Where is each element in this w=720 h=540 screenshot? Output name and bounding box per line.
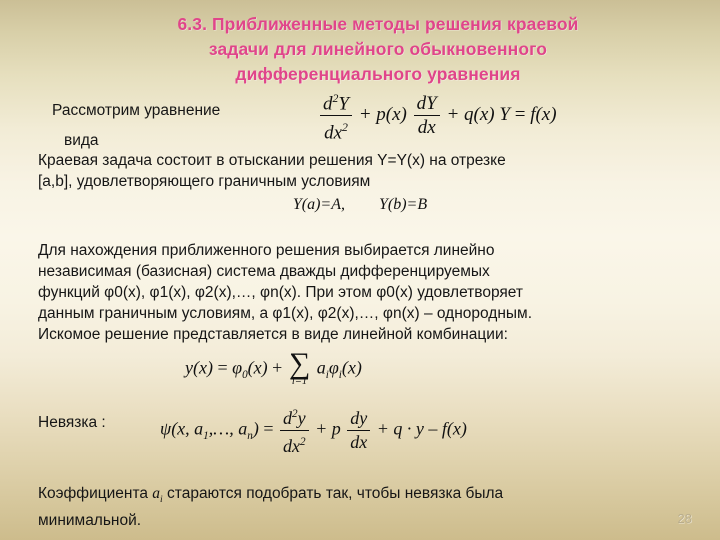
f-of-x-term: f(x) [442,419,467,439]
psi-args-open: (x, a [171,419,203,439]
slide-canvas: 6.3. Приближенные методы решения краевой… [0,0,720,540]
slide-title-line-2: задачи для линейного обыкновенного [128,37,628,62]
first-derivative-numerator: dY [414,93,440,116]
right-hand-side: f(x) [530,104,556,125]
equals-sign: = [217,358,227,378]
residual-first-derivative-fraction: dy dx [347,408,370,453]
closing-line-1: Коэффициента ai стараются подобрать так,… [38,483,638,510]
sigma-icon: ∑ [289,352,310,376]
closing-text-after-math: стараются подобрать так, чтобы невязка б… [163,485,503,502]
plus-operator-1: + [315,419,327,439]
slide-title: 6.3. Приближенные методы решения краевой… [128,12,628,87]
coefficient-a-i: ai [152,485,162,502]
equals-sign: = [263,419,273,439]
dx-exponent: 2 [300,436,306,448]
page-number: 28 [678,511,692,526]
residual-first-derivative-numerator: dy [347,408,370,431]
consider-equation-label: Рассмотрим уравнение [52,100,220,121]
basis-system-paragraph: Для нахождения приближенного решения выб… [38,240,688,345]
slide-title-line-1: 6.3. Приближенные методы решения краевой [128,12,628,37]
coefficient-a: a [317,358,326,378]
basis-line-5: Искомое решение представляется в виде ли… [38,324,688,345]
psi-args-close: ) [253,419,259,439]
q-times-y-term: q · y [393,419,424,439]
basis-line-3: функций φ0(x), φ1(x), φ2(x),…, φn(x). Пр… [38,282,688,303]
d-symbol: d [283,408,292,428]
basis-line-4: данным граничным условиям, а φ1(x), φ2(x… [38,303,688,324]
slide-title-line-3: дифференциального уравнения [128,62,628,87]
first-derivative-fraction: dY dx [414,93,440,138]
first-derivative-denominator: dx [414,116,440,138]
plus-operator: + [272,358,282,378]
residual-second-derivative-numerator: d2y [280,404,309,431]
y-variable: y [298,408,306,428]
psi-symbol: ψ [160,419,171,439]
summation-operator: ∑ i=1 [289,352,310,387]
q-of-x-coefficient: q(x) [464,104,495,125]
residual-label: Невязка : [38,412,106,433]
p-of-x-coefficient: p(x) [376,104,407,125]
residual-first-derivative-denominator: dx [347,431,370,453]
closing-text-before-math: Коэффициента [38,485,152,502]
psi-args-middle: ,…, a [209,419,248,439]
phi-i-argument: (x) [342,358,362,378]
boundary-condition-b: Y(b)=B [379,196,427,213]
basis-line-2: независимая (базисная) система дважды ди… [38,261,688,282]
dx-exponent: 2 [342,121,348,134]
second-derivative-numerator: d2Y [320,88,352,116]
phi-zero-symbol: φ [232,358,242,378]
equals-sign: = [515,104,526,125]
Y-term: Y [499,104,510,125]
minus-operator: – [428,419,437,439]
statement-line-2: [a,b], удовлетворяющего граничным услови… [38,171,678,192]
dx-symbol: dx [324,123,342,144]
coefficient-a-symbol: a [152,485,160,502]
closing-paragraph: Коэффициента ai стараются подобрать так,… [38,483,638,531]
residual-equation: ψ(x, a1,…, an) = d2y dx2 + p dy dx + q ·… [160,404,467,457]
d-symbol: d [323,93,333,114]
plus-operator-1: + [359,104,372,125]
main-differential-equation: d2Y dx2 + p(x) dY dx + q(x) Y = f(x) [318,88,557,144]
boundary-problem-statement: Краевая задача состоит в отыскании решен… [38,150,678,192]
boundary-conditions: Y(a)=A, Y(b)=B [150,194,570,215]
p-coefficient: p [332,419,341,439]
boundary-condition-a: Y(a)=A, [293,196,345,213]
of-form-label: вида [64,130,99,151]
residual-second-derivative-fraction: d2y dx2 [280,404,309,457]
plus-operator-2: + [446,104,459,125]
residual-second-derivative-denominator: dx2 [280,431,309,457]
plus-operator-2: + [377,419,389,439]
summation-lower-limit: i=1 [289,376,310,387]
phi-i-symbol: φ [329,358,339,378]
second-derivative-fraction: d2Y dx2 [320,88,352,144]
basis-line-1: Для нахождения приближенного решения выб… [38,240,688,261]
closing-line-2: минимальной. [38,510,638,531]
second-derivative-denominator: dx2 [320,116,352,143]
y-of-x-term: y(x) [185,358,213,378]
dx-symbol: dx [283,436,300,456]
Y-variable: Y [338,93,349,114]
phi-zero-argument: (x) [248,358,268,378]
linear-combination-equation: y(x) = φ0(x) + ∑ i=1 aiφi(x) [185,352,362,387]
statement-line-1: Краевая задача состоит в отыскании решен… [38,150,678,171]
